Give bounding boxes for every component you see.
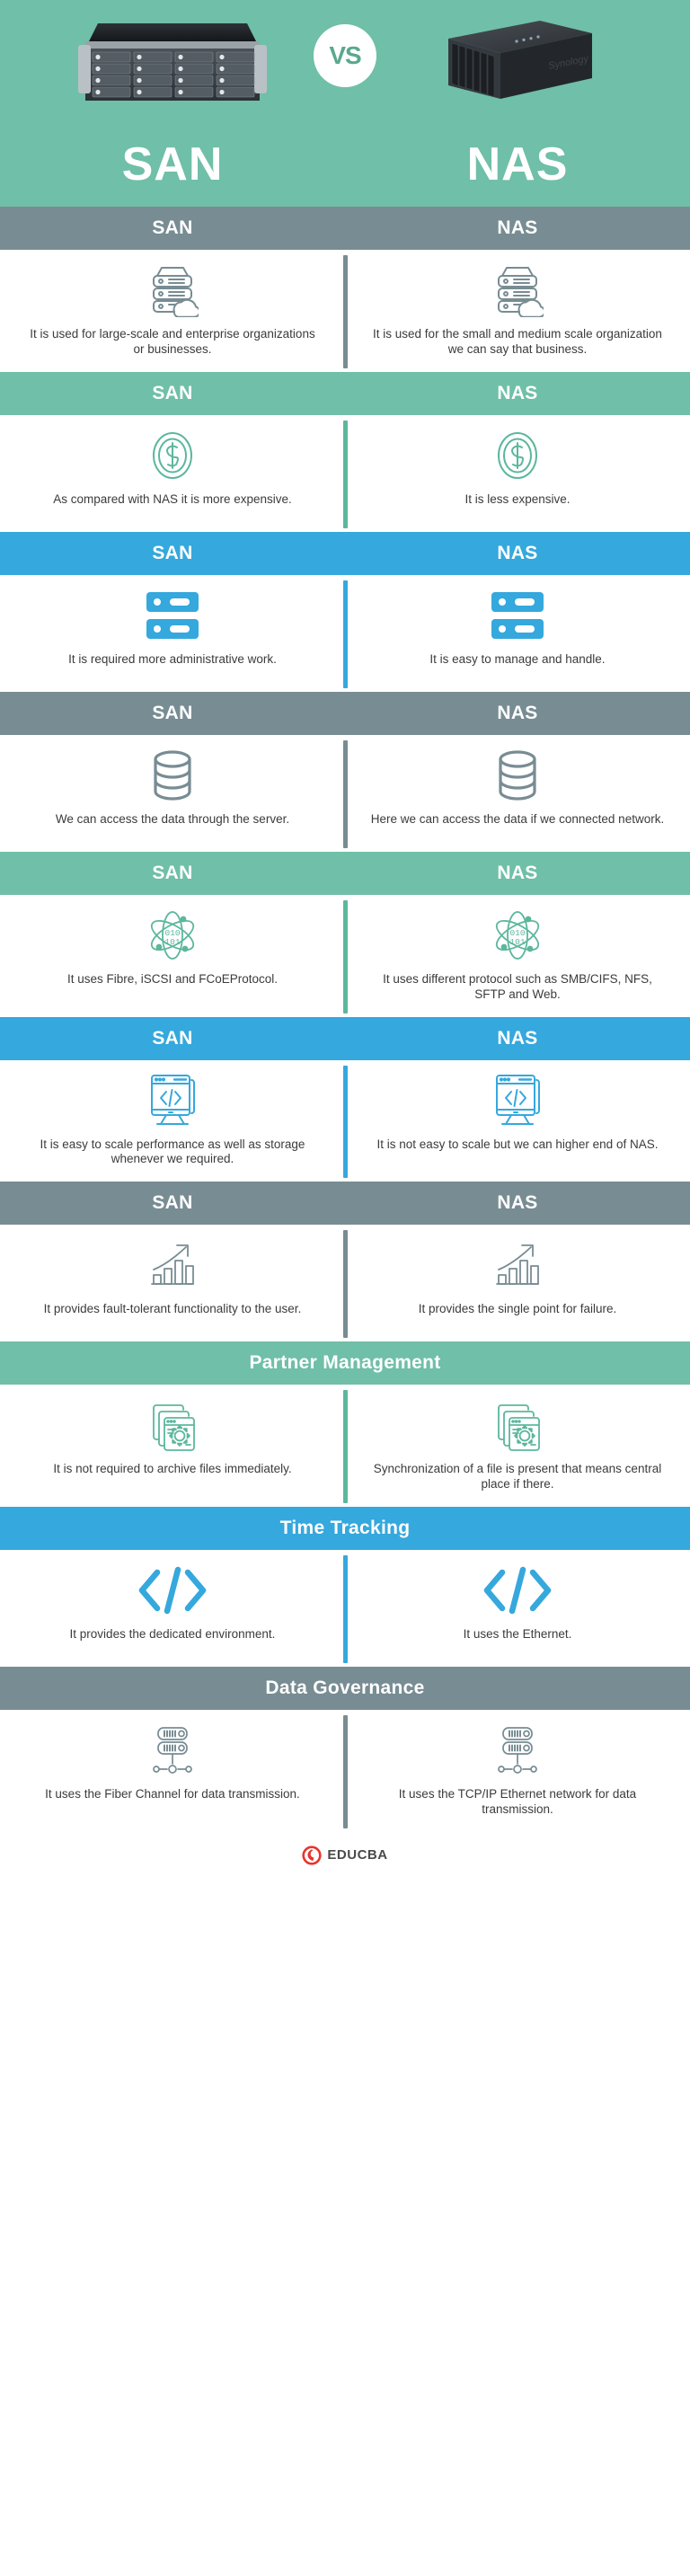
comparison-row-4: We can access the data through the serve… xyxy=(0,735,690,852)
section-banner-10: Data Governance xyxy=(0,1667,690,1710)
column-divider-7 xyxy=(343,1230,348,1338)
nas-cell-10: It uses the TCP/IP Ethernet network for … xyxy=(345,1722,690,1818)
hero-title-nas: NAS xyxy=(345,141,690,188)
san-description-10: It uses the Fiber Channel for data trans… xyxy=(45,1787,300,1802)
column-header-nas-6: NAS xyxy=(345,1028,690,1049)
nas-description-5: It uses different protocol such as SMB/C… xyxy=(369,972,666,1003)
footer-brand: EDUCBA xyxy=(0,1832,690,1879)
nas-description-7: It provides the single point for failure… xyxy=(419,1302,617,1317)
server-stack-icon xyxy=(490,588,545,643)
san-vs-nas-infographic: Synology VS SAN NAS SANNAS It is used fo… xyxy=(0,0,690,1879)
server-cloud-icon xyxy=(146,262,199,318)
server-stack-icon xyxy=(145,588,200,643)
monitor-code-icon xyxy=(146,1073,199,1129)
section-banner-2: SANNAS xyxy=(0,372,690,415)
educba-logo-icon xyxy=(302,1846,322,1865)
svg-text:101: 101 xyxy=(509,937,525,947)
column-divider-6 xyxy=(343,1066,348,1179)
san-description-1: It is used for large-scale and enterpris… xyxy=(24,327,321,358)
atom-binary-icon: 010 101 xyxy=(490,907,545,963)
comparison-row-8: It is not required to archive files imme… xyxy=(0,1385,690,1507)
section-banner-3: SANNAS xyxy=(0,532,690,575)
comparison-row-3: It is required more administrative work.… xyxy=(0,575,690,692)
san-cell-3: It is required more administrative work. xyxy=(0,588,345,677)
column-divider-1 xyxy=(343,255,348,368)
nas-cell-9: It uses the Ethernet. xyxy=(345,1562,690,1652)
san-cell-9: It provides the dedicated environment. xyxy=(0,1562,345,1652)
section-title-8: Partner Management xyxy=(0,1352,690,1374)
nas-cell-5: 010 101 It uses different protocol such … xyxy=(345,907,690,1003)
column-header-san-5: SAN xyxy=(0,863,345,884)
comparison-row-5: 010 101 It uses Fibre, iSCSI and FCoEPro… xyxy=(0,895,690,1017)
column-header-san-4: SAN xyxy=(0,703,345,724)
san-description-6: It is easy to scale performance as well … xyxy=(24,1138,321,1168)
san-description-8: It is not required to archive files imme… xyxy=(53,1462,291,1477)
column-header-nas-2: NAS xyxy=(345,383,690,404)
nas-device-cell: Synology xyxy=(345,0,690,121)
section-title-9: Time Tracking xyxy=(0,1518,690,1539)
nas-description-6: It is not easy to scale but we can highe… xyxy=(377,1138,659,1153)
san-device-cell xyxy=(0,0,345,121)
vs-badge: VS xyxy=(314,24,376,87)
nas-enclosure-image: Synology xyxy=(439,13,597,108)
section-banner-1: SANNAS xyxy=(0,207,690,250)
hero-banner: Synology VS SAN NAS xyxy=(0,0,690,207)
documents-gear-icon xyxy=(146,1397,199,1453)
nas-description-4: Here we can access the data if we connec… xyxy=(371,812,664,828)
section-banner-6: SANNAS xyxy=(0,1017,690,1060)
server-cloud-icon xyxy=(491,262,544,318)
san-cell-1: It is used for large-scale and enterpris… xyxy=(0,262,345,358)
san-description-5: It uses Fibre, iSCSI and FCoEProtocol. xyxy=(67,972,278,987)
san-cell-4: We can access the data through the serve… xyxy=(0,748,345,837)
section-banner-4: SANNAS xyxy=(0,692,690,735)
section-banner-9: Time Tracking xyxy=(0,1507,690,1550)
section-banner-7: SANNAS xyxy=(0,1182,690,1225)
atom-binary-icon: 010 101 xyxy=(145,907,200,963)
section-banner-5: SANNAS xyxy=(0,852,690,895)
nas-description-8: Synchronization of a file is present tha… xyxy=(369,1462,666,1492)
comparison-row-10: It uses the Fiber Channel for data trans… xyxy=(0,1710,690,1832)
database-cylinder-icon xyxy=(152,748,193,803)
database-cylinder-icon xyxy=(497,748,538,803)
educba-wordmark: EDUCBA xyxy=(327,1847,387,1863)
nas-cell-8: Synchronization of a file is present tha… xyxy=(345,1397,690,1492)
san-description-7: It provides fault-tolerant functionality… xyxy=(44,1302,302,1317)
san-description-4: We can access the data through the serve… xyxy=(56,812,289,828)
san-description-3: It is required more administrative work. xyxy=(68,652,277,668)
comparison-sections: SANNAS It is used for large-scale and en… xyxy=(0,207,690,1832)
dollar-coin-icon xyxy=(492,428,543,483)
server-network-icon xyxy=(146,1722,199,1778)
column-divider-8 xyxy=(343,1390,348,1503)
san-description-9: It provides the dedicated environment. xyxy=(70,1627,276,1642)
column-header-nas-1: NAS xyxy=(345,217,690,239)
documents-gear-icon xyxy=(491,1397,544,1453)
san-cell-7: It provides fault-tolerant functionality… xyxy=(0,1237,345,1327)
column-divider-9 xyxy=(343,1555,348,1663)
comparison-row-1: It is used for large-scale and enterpris… xyxy=(0,250,690,372)
nas-cell-6: It is not easy to scale but we can highe… xyxy=(345,1073,690,1168)
hero-titles: SAN NAS xyxy=(0,121,690,207)
code-brackets-icon xyxy=(136,1562,209,1618)
code-brackets-icon xyxy=(481,1562,554,1618)
column-header-san-2: SAN xyxy=(0,383,345,404)
column-divider-10 xyxy=(343,1715,348,1828)
nas-cell-7: It provides the single point for failure… xyxy=(345,1237,690,1327)
nas-cell-1: It is used for the small and medium scal… xyxy=(345,262,690,358)
growth-chart-icon xyxy=(491,1237,544,1293)
nas-description-2: It is less expensive. xyxy=(464,492,570,508)
nas-cell-4: Here we can access the data if we connec… xyxy=(345,748,690,837)
growth-chart-icon xyxy=(146,1237,199,1293)
column-divider-4 xyxy=(343,740,348,848)
nas-cell-2: It is less expensive. xyxy=(345,428,690,518)
column-header-san-1: SAN xyxy=(0,217,345,239)
comparison-row-7: It provides fault-tolerant functionality… xyxy=(0,1225,690,1341)
hero-title-san: SAN xyxy=(0,141,345,188)
column-divider-2 xyxy=(343,420,348,528)
column-header-san-7: SAN xyxy=(0,1192,345,1214)
monitor-code-icon xyxy=(491,1073,544,1129)
column-divider-5 xyxy=(343,900,348,1014)
rack-server-image xyxy=(78,18,267,103)
section-title-10: Data Governance xyxy=(0,1677,690,1699)
server-network-icon xyxy=(491,1722,544,1778)
comparison-row-9: It provides the dedicated environment. I… xyxy=(0,1550,690,1667)
dollar-coin-icon xyxy=(147,428,198,483)
column-header-nas-3: NAS xyxy=(345,543,690,564)
comparison-row-6: It is easy to scale performance as well … xyxy=(0,1060,690,1182)
nas-description-10: It uses the TCP/IP Ethernet network for … xyxy=(369,1787,666,1818)
column-header-san-3: SAN xyxy=(0,543,345,564)
nas-description-3: It is easy to manage and handle. xyxy=(429,652,605,668)
nas-description-9: It uses the Ethernet. xyxy=(464,1627,572,1642)
san-cell-10: It uses the Fiber Channel for data trans… xyxy=(0,1722,345,1818)
san-cell-6: It is easy to scale performance as well … xyxy=(0,1073,345,1168)
san-cell-5: 010 101 It uses Fibre, iSCSI and FCoEPro… xyxy=(0,907,345,1003)
san-description-2: As compared with NAS it is more expensiv… xyxy=(53,492,292,508)
column-divider-3 xyxy=(343,580,348,688)
san-cell-2: As compared with NAS it is more expensiv… xyxy=(0,428,345,518)
column-header-san-6: SAN xyxy=(0,1028,345,1049)
san-cell-8: It is not required to archive files imme… xyxy=(0,1397,345,1492)
nas-cell-3: It is easy to manage and handle. xyxy=(345,588,690,677)
comparison-row-2: As compared with NAS it is more expensiv… xyxy=(0,415,690,532)
column-header-nas-5: NAS xyxy=(345,863,690,884)
column-header-nas-4: NAS xyxy=(345,703,690,724)
column-header-nas-7: NAS xyxy=(345,1192,690,1214)
nas-description-1: It is used for the small and medium scal… xyxy=(369,327,666,358)
svg-text:101: 101 xyxy=(164,937,180,947)
section-banner-8: Partner Management xyxy=(0,1341,690,1385)
